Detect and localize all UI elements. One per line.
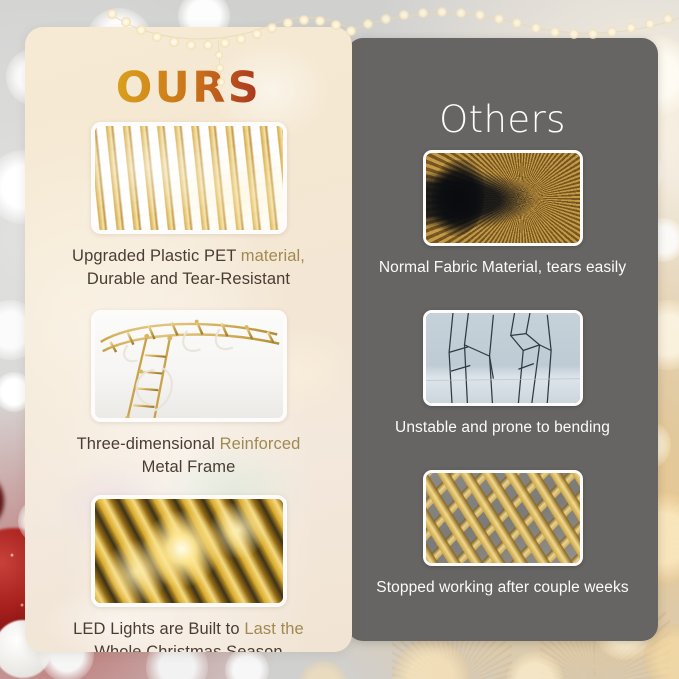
ours-caption-2: Three-dimensional Reinforced Metal Frame (25, 433, 352, 479)
others-item-3: Stopped working after couple weeks (347, 470, 658, 597)
photo-bent-wire (423, 310, 583, 406)
ours-caption-3-line-2: Whole Christmas Season (94, 643, 282, 652)
others-item-2: Unstable and prone to bending (347, 310, 658, 437)
ours-caption-2-line-1: Three-dimensional Reinforced (77, 435, 301, 453)
led-lights-artwork (95, 499, 283, 603)
ours-caption-3: LED Lights are Built to Last the Whole C… (25, 618, 352, 652)
photo-pet-material (91, 122, 287, 234)
photo-torn-fabric (423, 150, 583, 246)
others-title: Others (347, 98, 658, 141)
ours-title: OURS (25, 63, 352, 113)
others-caption-3: Stopped working after couple weeks (347, 579, 658, 597)
photo-led-lights (91, 495, 287, 607)
unlit-decoration-artwork (426, 473, 580, 563)
caption-highlight: material, (241, 247, 305, 265)
metal-frame-artwork (95, 314, 283, 418)
ours-item-2: Three-dimensional Reinforced Metal Frame (25, 310, 352, 479)
ours-caption-1: Upgraded Plastic PET material, Durable a… (25, 245, 352, 291)
others-caption-1: Normal Fabric Material, tears easily (347, 259, 658, 277)
caption-highlight: Last the (244, 620, 304, 638)
ours-panel: OURS Upgraded Plastic PET material, Dura… (25, 27, 352, 652)
others-item-1: Normal Fabric Material, tears easily (347, 150, 658, 277)
photo-dead-lights (423, 470, 583, 566)
ours-caption-2-line-2: Metal Frame (142, 458, 236, 476)
others-panel: Others Normal Fabric Material, tears eas… (347, 38, 658, 641)
photo-metal-frame (91, 310, 287, 422)
ours-caption-3-line-1: LED Lights are Built to Last the (73, 620, 304, 638)
pet-ribbon-artwork (95, 126, 283, 230)
ours-caption-1-line-1: Upgraded Plastic PET material, (72, 247, 305, 265)
ours-item-1: Upgraded Plastic PET material, Durable a… (25, 122, 352, 291)
others-caption-2: Unstable and prone to bending (347, 419, 658, 437)
wire-lines-icon (426, 313, 580, 403)
gold-wire-frame-icon (95, 314, 283, 418)
ours-item-3: LED Lights are Built to Last the Whole C… (25, 495, 352, 652)
bent-wire-artwork (426, 313, 580, 403)
caption-highlight: Reinforced (220, 435, 301, 453)
torn-fabric-artwork (426, 153, 580, 243)
ours-caption-1-line-2: Durable and Tear-Resistant (87, 270, 290, 288)
